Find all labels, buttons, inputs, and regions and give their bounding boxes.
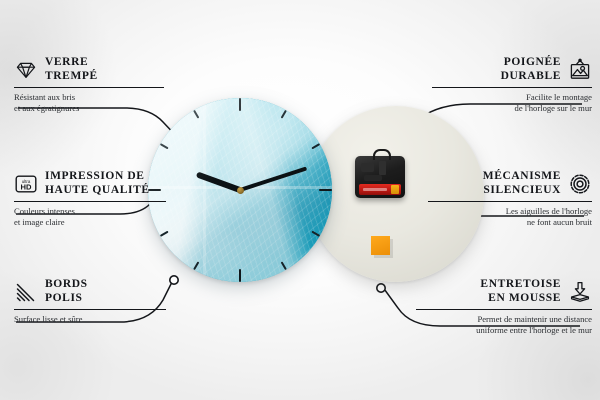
feature-desc-line2: et aux égratignures [14, 103, 164, 114]
feature-entretoise-en-mousse: ENTRETOISE EN MOUSSE Permet de maintenir… [416, 278, 592, 336]
feature-title-line1: POIGNÉE [501, 56, 561, 70]
feature-desc-line1: Les aiguilles de l'horloge [428, 206, 592, 217]
feature-desc-line1: Surface lisse et sûre [14, 314, 166, 325]
feature-title-line2: TREMPÉ [45, 70, 98, 84]
feature-title-line2: DURABLE [501, 70, 561, 84]
mechanism-detail [379, 161, 386, 175]
feature-divider [432, 87, 592, 88]
feature-divider [428, 201, 592, 202]
feature-desc-line2: uniforme entre l'horloge et le mur [416, 325, 592, 336]
ultra-hd-icon-bottom-label: HD [21, 182, 32, 191]
feature-divider [14, 87, 164, 88]
feature-bords-polis: BORDS POLIS Surface lisse et sûre [14, 278, 166, 325]
feature-impression-haute-qualite: ultra HD IMPRESSION DE HAUTE QUALITÉ Cou… [14, 170, 166, 228]
gear-icon [568, 172, 592, 196]
mechanism-detail [364, 175, 382, 181]
feature-desc-line2: ne font aucun bruit [428, 217, 592, 228]
feature-divider [14, 201, 166, 202]
feature-title-line2: POLIS [45, 292, 88, 306]
feature-title-line1: BORDS [45, 278, 88, 292]
feature-title-line2: HAUTE QUALITÉ [45, 184, 150, 198]
connector-dot-entretoise [377, 284, 385, 292]
feature-divider [14, 309, 166, 310]
feature-desc-line1: Couleurs intenses [14, 206, 166, 217]
clock-front-view [148, 98, 332, 282]
hanging-frame-icon [568, 58, 592, 82]
feature-desc-line2: de l'horloge sur le mur [432, 103, 592, 114]
foam-spacer-icon [568, 280, 592, 304]
clock-mechanism [355, 156, 405, 198]
feature-poignee-durable: POIGNÉE DURABLE Facilite le montage de l… [432, 56, 592, 114]
feature-desc-line1: Permet de maintenir une distance [416, 314, 592, 325]
feature-title-line2: SILENCIEUX [483, 184, 561, 198]
feature-desc-line1: Résistant aux bris [14, 92, 164, 103]
foam-spacer-pad [371, 236, 390, 255]
ultra-hd-icon: ultra HD [14, 172, 38, 196]
infographic-canvas: VERRE TREMPÉ Résistant aux bris et aux é… [0, 0, 600, 400]
feature-desc-line1: Facilite le montage [432, 92, 592, 103]
diamond-icon [14, 58, 38, 82]
glass-gloss-overlay [148, 98, 332, 282]
mechanism-hanger-hook [373, 149, 391, 160]
battery [359, 184, 401, 195]
feature-mecanisme-silencieux: MÉCANISME SILENCIEUX Les aiguilles de l'… [428, 170, 592, 228]
feature-desc-line2: et image claire [14, 217, 166, 228]
feature-title-line2: EN MOUSSE [480, 292, 561, 306]
feature-title-line1: IMPRESSION DE [45, 170, 150, 184]
feature-divider [416, 309, 592, 310]
feature-title-line1: ENTRETOISE [480, 278, 561, 292]
feature-title-line1: VERRE [45, 56, 98, 70]
feature-title-line1: MÉCANISME [483, 170, 561, 184]
polished-edges-icon [14, 280, 38, 304]
mechanism-detail [361, 163, 374, 172]
feature-verre-trempe: VERRE TREMPÉ Résistant aux bris et aux é… [14, 56, 164, 114]
